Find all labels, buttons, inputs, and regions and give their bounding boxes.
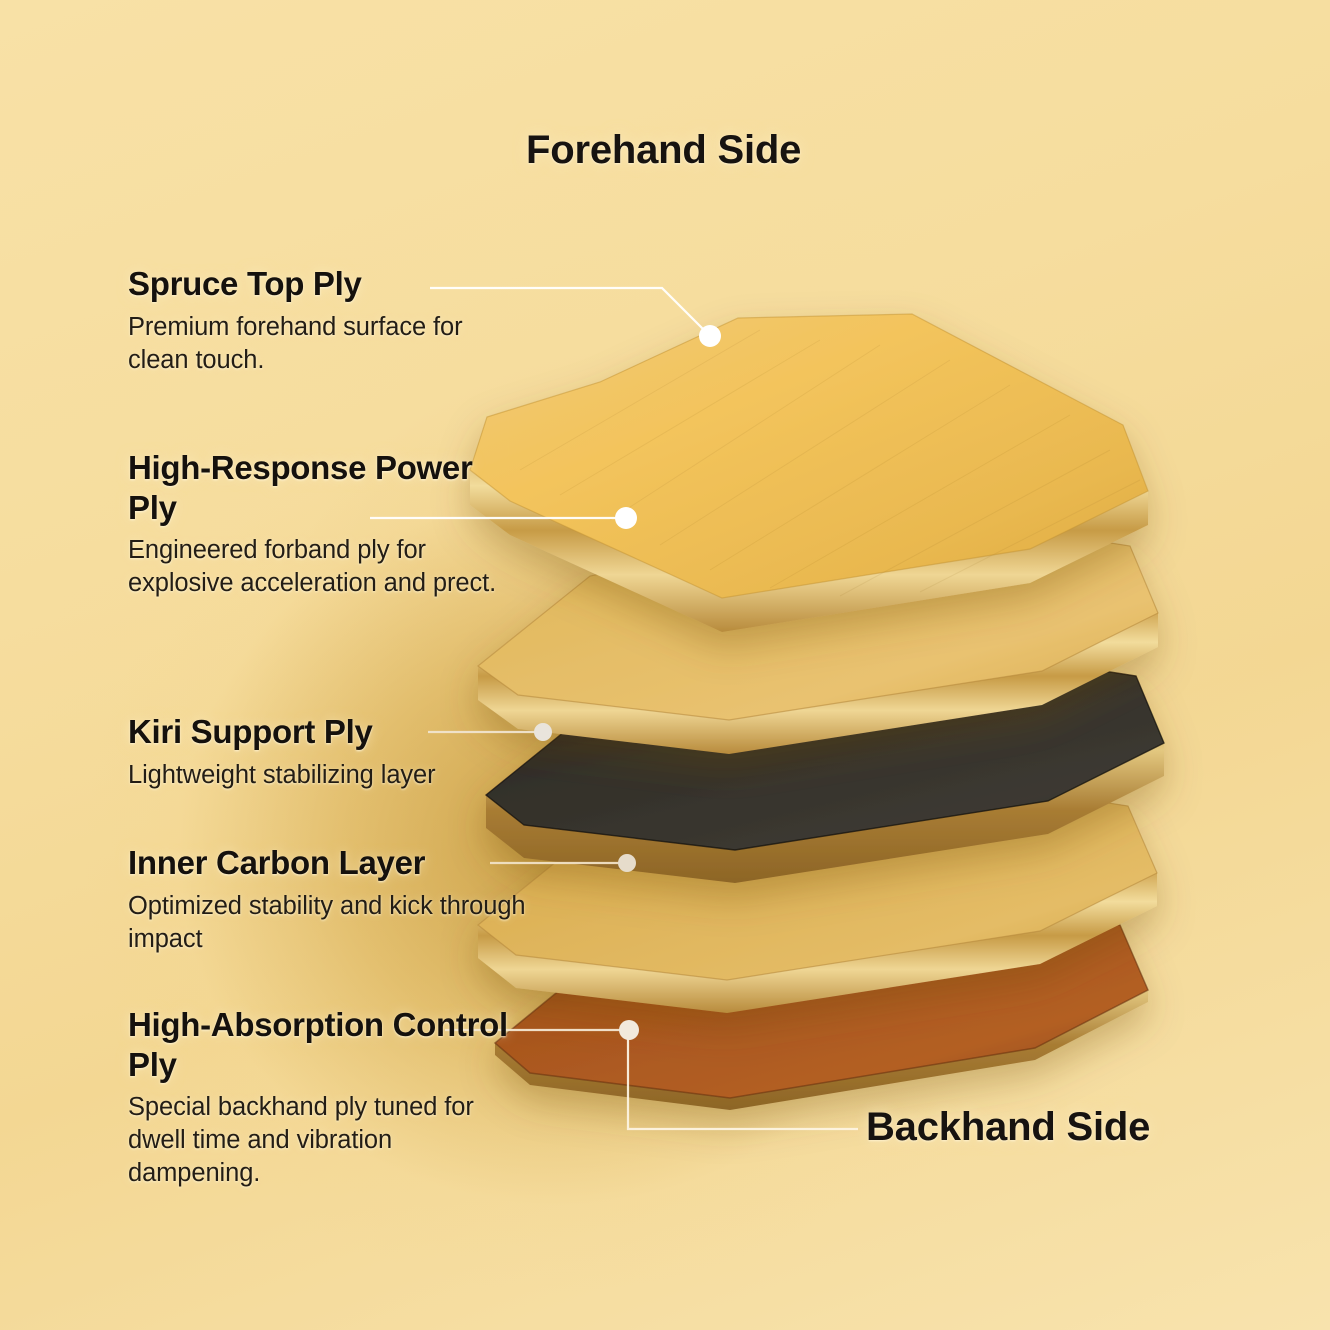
layer-description: Special backhand ply tuned for dwell tim… (128, 1091, 528, 1190)
layer-label-high-absorption-control-ply[interactable]: High-Absorption Control Ply Special back… (128, 1005, 528, 1191)
forehand-side-title: Forehand Side (526, 128, 801, 173)
backhand-side-title: Backhand Side (866, 1105, 1150, 1150)
layer-description: Engineered forband ply for explosive acc… (128, 534, 528, 600)
layer-label-spruce-top-ply[interactable]: Spruce Top Ply Premium forehand surface … (128, 264, 528, 377)
layer-description: Optimized stability and kick through imp… (128, 890, 528, 956)
layer-title: Inner Carbon Layer (128, 843, 528, 883)
layer-label-kiri-support-ply[interactable]: Kiri Support Ply Lightweight stabilizing… (128, 712, 528, 792)
layer-description: Lightweight stabilizing layer (128, 759, 528, 792)
diagram-canvas: Forehand Side Backhand Side Spruce Top P… (0, 0, 1330, 1330)
layer-label-high-response-power-ply[interactable]: High-Response Power Ply Engineered forba… (128, 448, 528, 600)
layer-title: High-Absorption Control Ply (128, 1005, 528, 1084)
layer-label-inner-carbon-layer[interactable]: Inner Carbon Layer Optimized stability a… (128, 843, 528, 956)
layer-title: High-Response Power Ply (128, 448, 528, 527)
layer-title: Kiri Support Ply (128, 712, 528, 752)
layer-description: Premium forehand surface for clean touch… (128, 311, 528, 377)
layer-title: Spruce Top Ply (128, 264, 528, 304)
